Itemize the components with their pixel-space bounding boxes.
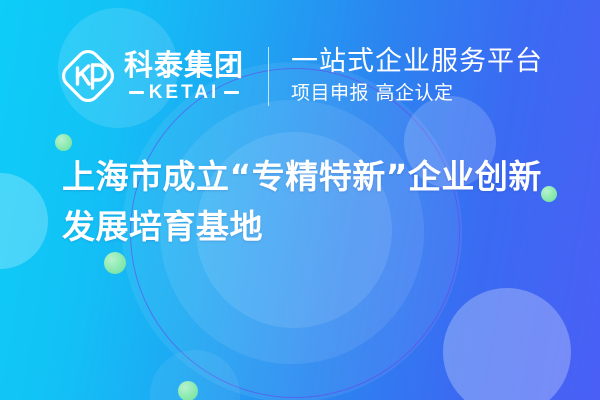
brand-logo[interactable]: 科泰集团 KETAI: [60, 48, 244, 104]
banner-header: 科泰集团 KETAI 一站式企业服务平台 项目申报 高企认定: [0, 38, 600, 114]
promo-banner: 科泰集团 KETAI 一站式企业服务平台 项目申报 高企认定 上海市成立“专精特…: [0, 0, 600, 400]
ketai-kp-diamond-logo-icon: [60, 48, 116, 104]
logo-dash-right-icon: [224, 91, 239, 94]
logo-company-name-en: KETAI: [149, 83, 220, 102]
headline-line-2: 发展培育基地: [62, 202, 582, 252]
left-edge-circle: [0, 173, 48, 269]
header-tagline: 一站式企业服务平台 项目申报 高企认定: [291, 47, 543, 106]
logo-dash-left-icon: [129, 91, 144, 94]
green-dot-upper-left: [55, 134, 72, 151]
green-dot-bottom: [178, 381, 198, 400]
logo-company-name-cn: 科泰集团: [124, 50, 244, 80]
tagline-primary: 一站式企业服务平台: [291, 47, 543, 77]
logo-company-name-en-row: KETAI: [124, 83, 244, 102]
bottom-left-circle: [150, 350, 240, 400]
green-dot-lower-left: [104, 252, 126, 274]
tagline-secondary: 项目申报 高企认定: [291, 81, 543, 106]
header-divider: [268, 47, 269, 106]
headline-block: 上海市成立“专精特新”企业创新 发展培育基地: [62, 152, 582, 252]
logo-wordmark: 科泰集团 KETAI: [124, 50, 244, 102]
headline-line-1: 上海市成立“专精特新”企业创新: [62, 152, 582, 202]
bottom-right-circle: [443, 288, 571, 400]
